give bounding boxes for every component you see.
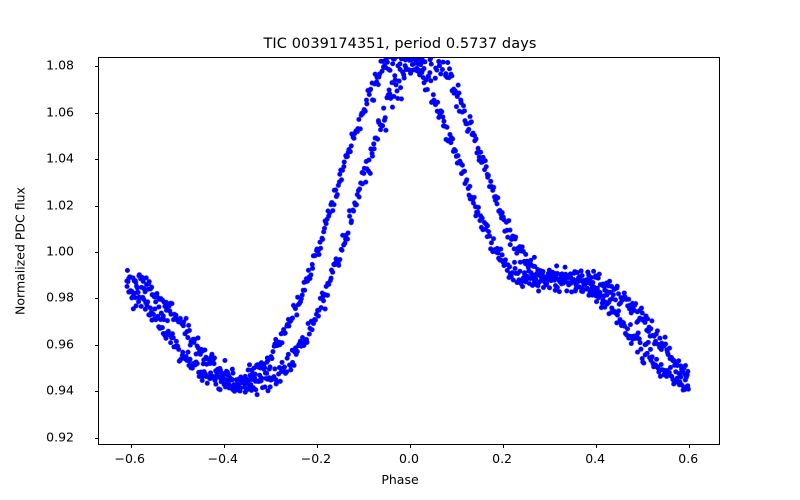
y-axis-tick [95, 159, 99, 160]
y-axis-tick-label: 0.92 [46, 429, 74, 444]
plot-axes [98, 57, 720, 445]
x-axis-label: Phase [0, 472, 800, 487]
y-axis-tick-label: 1.06 [46, 104, 74, 119]
x-axis-tick [596, 444, 597, 448]
x-axis-tick-label: −0.4 [208, 451, 238, 466]
y-axis-tick [95, 298, 99, 299]
y-axis-tick-label: 0.96 [46, 336, 74, 351]
x-axis-tick-label: −0.6 [115, 451, 145, 466]
x-axis-tick-label: 0.2 [492, 451, 512, 466]
y-axis-tick-label: 0.94 [46, 383, 74, 398]
y-axis-tick [95, 113, 99, 114]
x-axis-tick [317, 444, 318, 448]
x-axis-tick-label: 0.0 [399, 451, 419, 466]
x-axis-tick-label: 0.6 [678, 451, 698, 466]
x-axis-tick [503, 444, 504, 448]
y-axis-tick [95, 438, 99, 439]
y-axis-tick [95, 345, 99, 346]
y-axis-tick [95, 206, 99, 207]
y-axis-tick-label: 1.00 [46, 244, 74, 259]
y-axis-tick-label: 1.02 [46, 197, 74, 212]
y-axis-tick [95, 391, 99, 392]
x-axis-tick [689, 444, 690, 448]
y-axis-tick [95, 66, 99, 67]
x-axis-tick [224, 444, 225, 448]
y-axis-tick [95, 252, 99, 253]
y-axis-tick-label: 1.04 [46, 151, 74, 166]
y-axis-tick-label: 0.98 [46, 290, 74, 305]
scatter-plot-area [99, 58, 719, 444]
y-axis-label: Normalized PDC flux [13, 187, 28, 315]
x-axis-tick [410, 444, 411, 448]
page-title: TIC 0039174351, period 0.5737 days [0, 36, 800, 52]
x-axis-tick [131, 444, 132, 448]
x-axis-tick-label: −0.2 [301, 451, 331, 466]
x-axis-tick-label: 0.4 [585, 451, 605, 466]
y-axis-tick-label: 1.08 [46, 58, 74, 73]
figure-canvas: TIC 0039174351, period 0.5737 days Phase… [0, 0, 800, 500]
